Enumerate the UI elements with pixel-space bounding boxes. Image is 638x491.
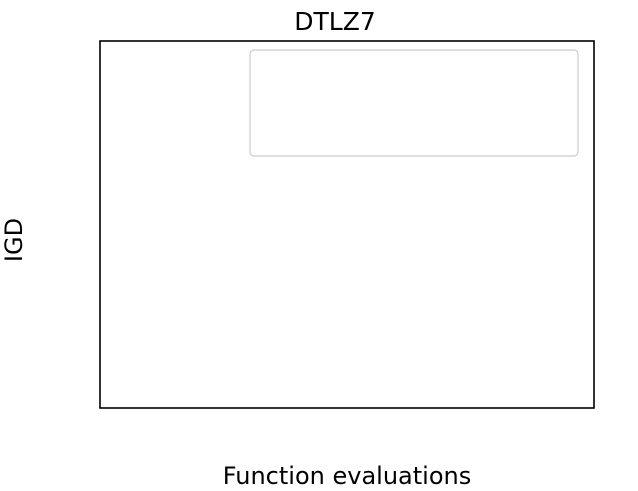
chart-svg: DTLZ7 Function evaluations IGD: [0, 0, 638, 491]
legend[interactable]: [250, 50, 578, 156]
figure-canvas: DTLZ7 Function evaluations IGD: [0, 0, 638, 491]
x-axis-label: Function evaluations: [223, 462, 471, 490]
chart-title: DTLZ7: [294, 7, 375, 36]
legend-box: [250, 50, 578, 156]
y-axis-label: IGD: [0, 218, 28, 262]
